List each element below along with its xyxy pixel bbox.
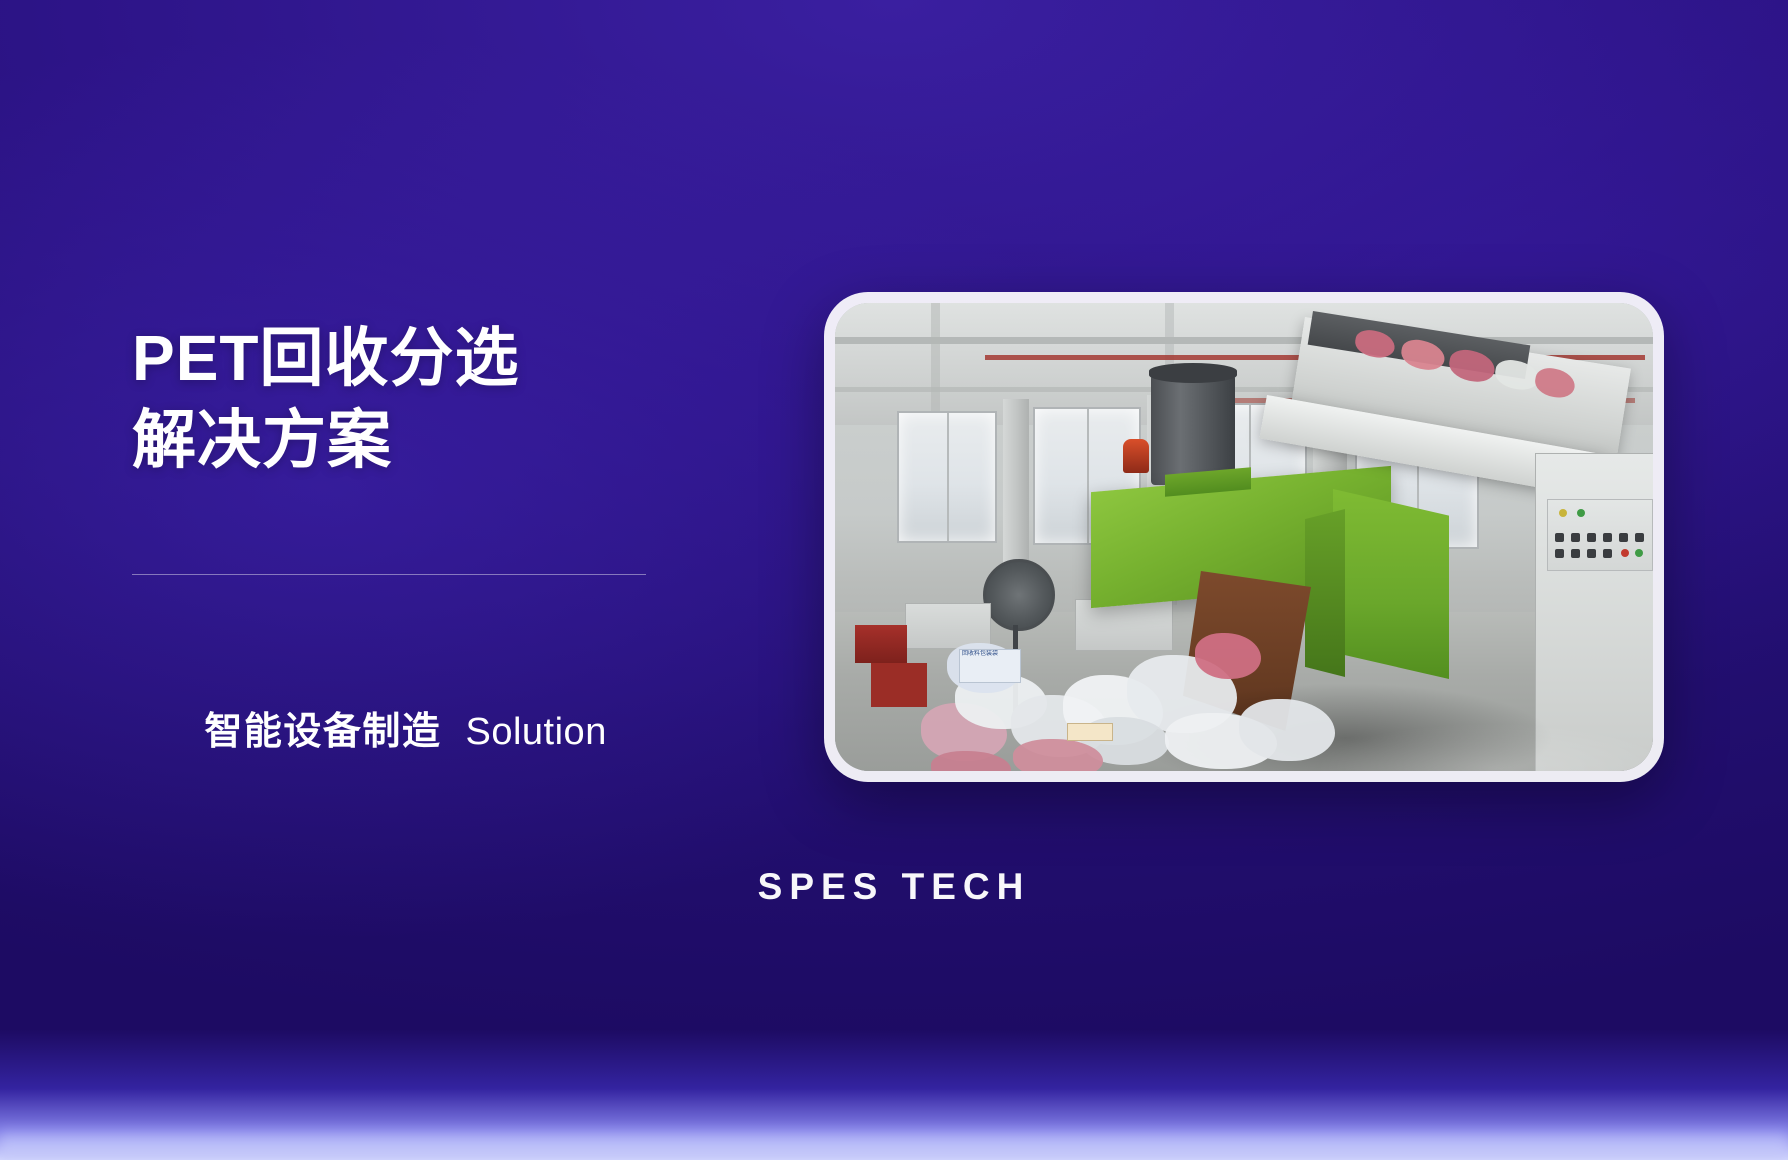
photo-panel-button-7 [1555, 549, 1564, 558]
title-block: PET回收分选 解决方案 智能设备制造 Solution [132, 318, 692, 798]
photo-bag-label-2 [1067, 723, 1113, 741]
photo-tank [1151, 373, 1235, 485]
photo-panel-button-6 [1635, 533, 1644, 542]
subtitle: 智能设备制造 Solution [132, 657, 692, 798]
page-title: PET回收分选 解决方案 [132, 318, 692, 482]
photo-window-1 [897, 411, 997, 543]
photo-panel-button-1 [1555, 533, 1564, 542]
photo-panel-button-9 [1587, 549, 1596, 558]
photo-panel-button-8 [1571, 549, 1580, 558]
subtitle-cn: 智能设备制造 [204, 711, 441, 753]
photo-warning-lamp [1123, 439, 1149, 473]
photo-panel-light-red [1621, 549, 1629, 557]
brand-logo-text: SPES TECH [0, 866, 1788, 908]
photo-panel-button-4 [1603, 533, 1612, 542]
photo-floor-sheen [1315, 723, 1653, 771]
photo-machine-red [855, 625, 907, 663]
photo-tank-top [1149, 363, 1237, 383]
factory-photo: 回收料包装袋 [835, 303, 1653, 771]
photo-panel-light-green [1635, 549, 1643, 557]
photo-panel-button-3 [1587, 533, 1596, 542]
photo-panel-button-10 [1603, 549, 1612, 558]
photo-machine-left-2 [1075, 599, 1173, 651]
photo-ceiling-beam-1 [835, 337, 1653, 344]
slide-root: PET回收分选 解决方案 智能设备制造 Solution [0, 0, 1788, 1160]
subtitle-spacer [441, 711, 465, 753]
photo-fan-icon [983, 559, 1055, 631]
photo-bag-label: 回收料包装袋 [959, 649, 1021, 683]
photo-panel-light-green-2 [1577, 509, 1585, 517]
photo-card: 回收料包装袋 [824, 292, 1664, 782]
photo-panel-light-amber [1559, 509, 1567, 517]
photo-panel-button-2 [1571, 533, 1580, 542]
photo-green-chute [1333, 489, 1449, 679]
subtitle-en: Solution [466, 711, 607, 753]
photo-panel-button-5 [1619, 533, 1628, 542]
photo-machine-red-body [871, 663, 927, 707]
photo-ceiling-post-1 [931, 303, 940, 423]
title-divider [132, 574, 646, 575]
photo-green-chute-side [1305, 509, 1345, 677]
bottom-glow-core [0, 1126, 1788, 1160]
